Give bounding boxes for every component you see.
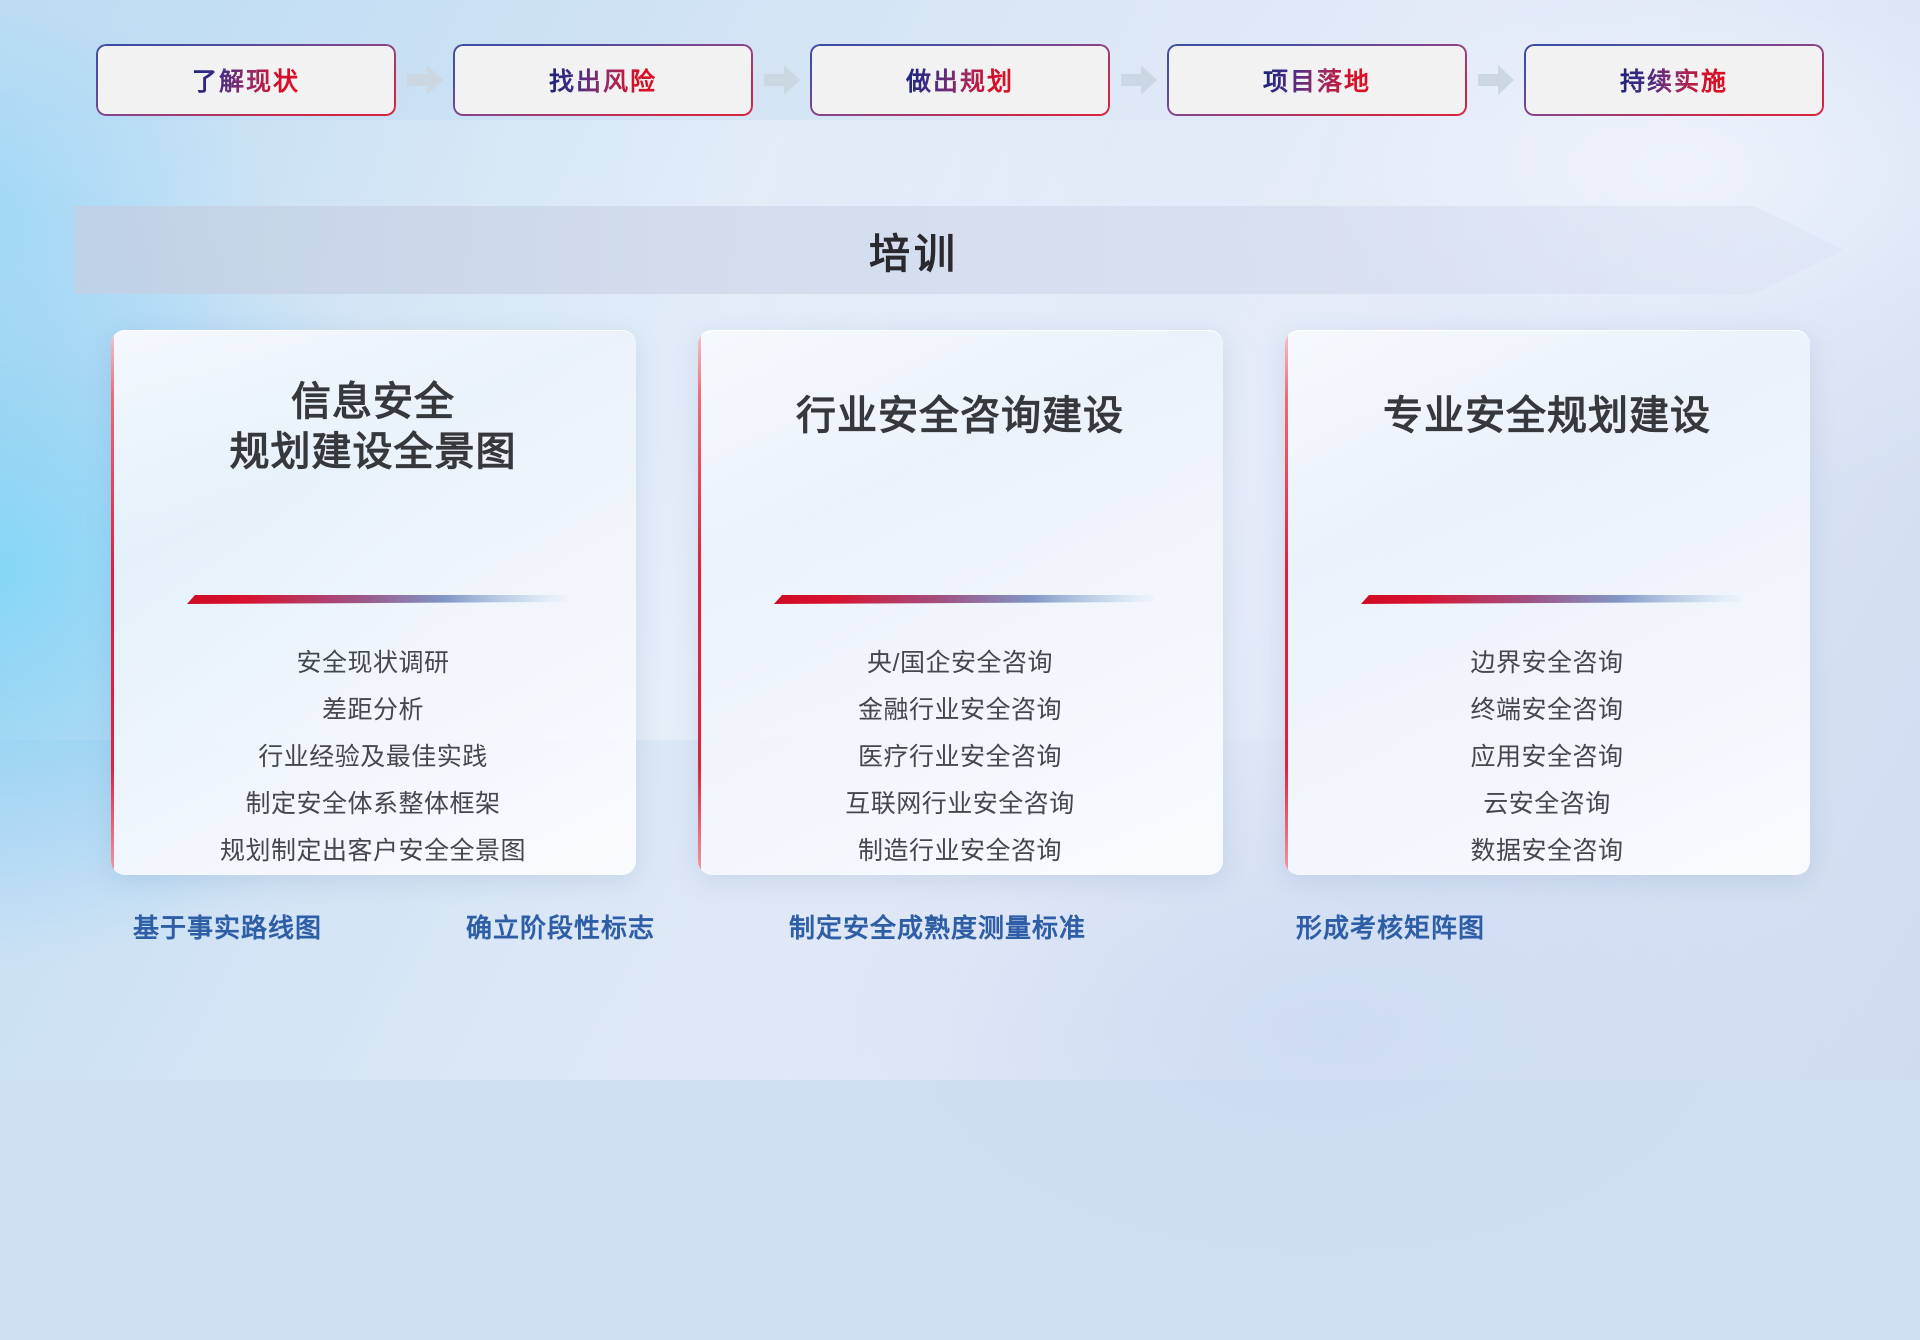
step-box-1[interactable]: 了解现状	[96, 44, 396, 116]
right-arrow-icon	[1110, 44, 1167, 116]
list-item: 云安全咨询	[1285, 781, 1810, 828]
step-box-5[interactable]: 持续实施	[1524, 44, 1824, 116]
list-item: 行业经验及最佳实践	[111, 734, 636, 781]
list-item: 互联网行业安全咨询	[698, 781, 1223, 828]
list-item: 制定安全体系整体框架	[111, 781, 636, 828]
list-item: 央/国企安全咨询	[698, 640, 1223, 687]
step-box-3[interactable]: 做出规划	[810, 44, 1110, 116]
caption-1: 基于事实路线图	[133, 908, 322, 945]
step-label-5: 持续实施	[1620, 62, 1728, 98]
card-title: 专业安全规划建设	[1383, 392, 1711, 442]
list-item: 制造行业安全咨询	[698, 828, 1223, 875]
card-row: 信息安全 规划建设全景图	[0, 330, 1920, 890]
list-item: 应用安全咨询	[1285, 734, 1810, 781]
list-item: 数据安全咨询	[1285, 828, 1810, 875]
step-box-4[interactable]: 项目落地	[1167, 44, 1467, 116]
list-item: 医疗行业安全咨询	[698, 734, 1223, 781]
gradient-rule-icon	[766, 593, 1154, 606]
banner-title: 培训	[74, 206, 1754, 294]
card-industry-security-consulting[interactable]: 行业安全咨询建设	[698, 330, 1223, 875]
card-professional-security-planning[interactable]: 专业安全规划建设	[1285, 330, 1810, 875]
list-item: 终端安全咨询	[1285, 687, 1810, 734]
step-box-2[interactable]: 找出风险	[453, 44, 753, 116]
list-item: 规划制定出客户安全全景图	[111, 828, 636, 875]
step-label-3: 做出规划	[906, 62, 1014, 98]
card-title: 信息安全 规划建设全景图	[230, 378, 517, 477]
card-divider-wrap	[1285, 593, 1810, 606]
card-divider-wrap	[111, 593, 636, 606]
caption-3: 制定安全成熟度测量标准	[789, 908, 1086, 945]
training-banner: 培训	[74, 206, 1844, 294]
caption-2: 确立阶段性标志	[466, 908, 655, 945]
card-info-security-panorama[interactable]: 信息安全 规划建设全景图	[111, 330, 636, 875]
gradient-rule-icon	[179, 593, 567, 606]
list-item: 差距分析	[111, 687, 636, 734]
step-label-2: 找出风险	[549, 62, 657, 98]
card-title: 行业安全咨询建设	[796, 392, 1124, 442]
right-arrow-icon	[396, 44, 453, 116]
list-item: 边界安全咨询	[1285, 640, 1810, 687]
process-step-row: 了解现状 找出风险 做出规划 项目落地 持续实施	[0, 0, 1920, 160]
card-item-list: 边界安全咨询 终端安全咨询 应用安全咨询 云安全咨询 数据安全咨询	[1285, 640, 1810, 875]
right-arrow-icon	[1467, 44, 1524, 116]
card-divider-wrap	[698, 593, 1223, 606]
right-arrow-icon	[753, 44, 810, 116]
step-label-4: 项目落地	[1263, 62, 1371, 98]
caption-4: 形成考核矩阵图	[1296, 908, 1485, 945]
step-label-1: 了解现状	[192, 62, 300, 98]
card-item-list: 央/国企安全咨询 金融行业安全咨询 医疗行业安全咨询 互联网行业安全咨询 制造行…	[698, 640, 1223, 875]
list-item: 安全现状调研	[111, 640, 636, 687]
caption-row: 基于事实路线图 确立阶段性标志 制定安全成熟度测量标准 形成考核矩阵图	[0, 908, 1920, 978]
list-item: 金融行业安全咨询	[698, 687, 1223, 734]
card-item-list: 安全现状调研 差距分析 行业经验及最佳实践 制定安全体系整体框架 规划制定出客户…	[111, 640, 636, 875]
gradient-rule-icon	[1353, 593, 1741, 606]
